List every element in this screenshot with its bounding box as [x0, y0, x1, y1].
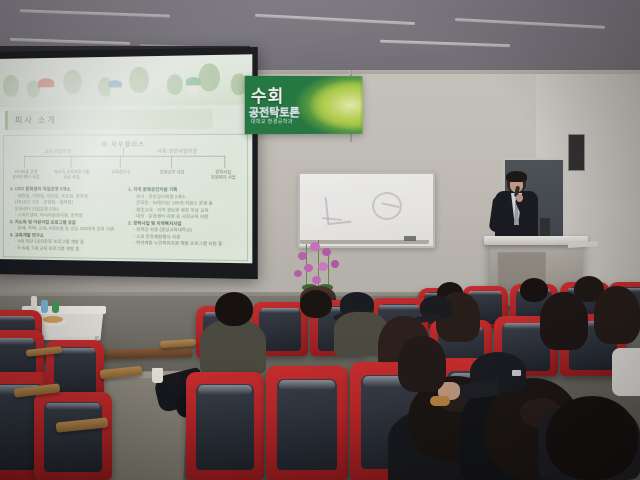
orchid-flower [312, 276, 321, 284]
presentation-slide: 피사 소개 ㈜ 파우플러스 교육사업부문 사회·전문사업부문 사이버몰 운영온라… [0, 54, 252, 263]
baseball-cap-icon [420, 296, 452, 318]
org-box: 장학사업지원복지 사업 [202, 169, 245, 180]
orchid-flower [318, 262, 328, 271]
presenter-hair [506, 171, 527, 182]
ceiling-light-4 [10, 38, 130, 45]
audience-head [546, 396, 638, 480]
audience-head [520, 278, 548, 302]
tree-icon [199, 63, 220, 91]
tree-icon [129, 66, 149, 93]
slide-title-bar: 피사 소개 [5, 109, 213, 130]
presenter-hand [516, 194, 523, 202]
audience-sleeve [612, 348, 640, 396]
slide-header-illustration [0, 54, 252, 107]
audience-head [398, 336, 446, 392]
org-connector [24, 156, 225, 157]
orchid-flower [322, 248, 331, 256]
whiteboard-mark [378, 202, 399, 223]
audience-head [215, 292, 253, 326]
org-box: 교육연구소 [100, 169, 141, 175]
org-box: 저소득 교육프로그램공급 사업 [51, 169, 92, 180]
org-connector [24, 156, 25, 168]
slide-title-text: 피사 소개 [8, 114, 57, 125]
tree-icon [63, 70, 81, 95]
green-bottle-icon [52, 301, 59, 313]
tree-icon [167, 74, 183, 95]
orchid-flower [331, 260, 339, 268]
org-branch-left-label: 교육사업부문 [44, 149, 72, 155]
org-branch-right-label: 사회·전문사업부문 [157, 148, 197, 154]
banner-affiliation: 대학교 환경공학과 [251, 118, 293, 125]
ceiling-light-3 [455, 18, 605, 29]
org-connector [123, 148, 124, 156]
cap-logo-icon [512, 370, 521, 376]
roof-icon [108, 80, 121, 87]
roof-icon [38, 78, 54, 87]
ceiling-light-2 [255, 14, 415, 25]
org-connector [70, 156, 71, 168]
seat [34, 392, 112, 480]
wall-speaker-icon [568, 134, 585, 171]
org-box: 문화교전 사업 [151, 169, 193, 175]
slide-body: ㈜ 파우플러스 교육사업부문 사회·전문사업부문 사이버몰 운영온라인센터 사업… [3, 134, 248, 261]
projection-screen: 피사 소개 ㈜ 파우플러스 교육사업부문 사회·전문사업부문 사이버몰 운영온라… [0, 47, 258, 279]
ceiling-light-5 [380, 40, 510, 48]
org-box: 사이버몰 운영온라인센터 사업 [6, 169, 46, 180]
whiteboard-eraser [404, 236, 416, 241]
orchid-flower [304, 264, 313, 272]
lecture-hall-photo: 피사 소개 ㈜ 파우플러스 교육사업부문 사회·전문사업부문 사이버몰 운영온라… [0, 0, 640, 480]
banner-swoosh-highlight [309, 80, 361, 130]
orchid-flower [294, 270, 302, 277]
bracelet-icon [430, 396, 450, 406]
paper-cup-icon [152, 368, 163, 383]
org-connector [224, 156, 225, 168]
audience-head [540, 292, 588, 350]
slide-bullet-sub: - 5~6세, 7세 교육 프로그램 개발 중 [10, 245, 120, 253]
seat [186, 372, 264, 480]
orchid-flower [298, 252, 307, 260]
seat [266, 366, 348, 480]
org-connector [120, 156, 121, 168]
audience-head [300, 290, 332, 318]
paper-cup-icon [31, 296, 37, 310]
water-bottle-icon [41, 300, 48, 313]
audience-head [594, 286, 640, 344]
slide-bullet-sub: - 취약계층 노인복지지원 체험 프로그램 지원 중 [128, 240, 243, 248]
audience-body [200, 320, 266, 374]
orchid-flower [310, 242, 320, 251]
tree-icon [3, 75, 19, 97]
ceiling-light-1 [20, 9, 170, 17]
roof-icon [186, 77, 201, 85]
snack-icon [43, 316, 63, 323]
slide-column-left: 1. CEO 문화센터 직접운영 5개소- 제천점, 의정점, 대전점, 목포점… [10, 186, 120, 253]
org-connector [171, 156, 172, 168]
event-banner: 수회 공전탁토론 대학교 환경공학과 [245, 76, 363, 134]
slide-column-right: 1. 지역 문화공간지원 기획- 본사 · 전문강사위원 2개소- 문화원 · … [128, 187, 243, 249]
